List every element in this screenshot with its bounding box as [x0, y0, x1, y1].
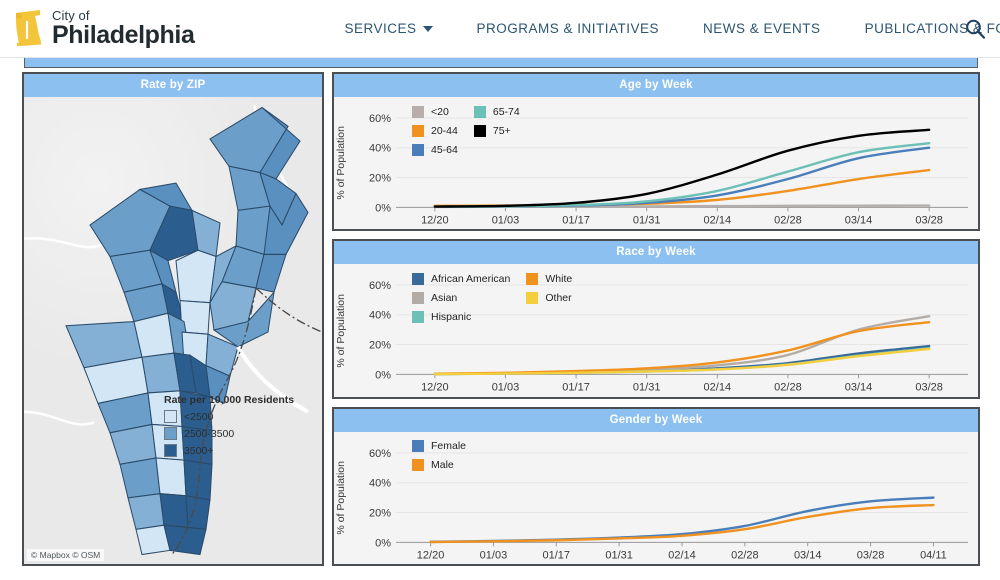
dashboard: Rate by ZIP .z { stroke:#2a4a68; stroke-… [0, 58, 1000, 580]
nav-item-programs-initiatives[interactable]: PROGRAMS & INITIATIVES [477, 21, 660, 36]
legend-swatch-high [164, 444, 177, 457]
y-axis-tick: 0% [375, 370, 391, 382]
map-body[interactable]: .z { stroke:#2a4a68; stroke-width:1; } .… [24, 97, 322, 564]
legend-item-other[interactable]: Other [526, 289, 572, 306]
legend-item-20-44[interactable]: 20-44 [412, 122, 458, 139]
legend-swatch-icon [412, 459, 424, 471]
x-axis-tick: 01/31 [633, 214, 661, 226]
x-axis-tick: 04/11 [920, 549, 947, 561]
nav-item-news-events[interactable]: NEWS & EVENTS [703, 21, 821, 36]
legend-swatch-icon [412, 292, 424, 304]
gender-chart-legend: FemaleMale [412, 438, 466, 474]
legend-label-high: 3500+ [184, 445, 214, 457]
legend-label: African American [431, 273, 510, 285]
x-axis-tick: 03/14 [794, 549, 822, 561]
rate-by-zip-panel: Rate by ZIP .z { stroke:#2a4a68; stroke-… [22, 72, 324, 566]
search-icon[interactable] [964, 18, 986, 40]
nav-item-services[interactable]: SERVICES [344, 21, 432, 36]
legend-label: Asian [431, 292, 457, 304]
legend-label-mid: 2500-3500 [184, 428, 234, 440]
rate-by-zip-title: Rate by ZIP [24, 74, 322, 97]
legend-swatch-icon [412, 273, 424, 285]
x-axis-tick: 03/14 [845, 214, 873, 226]
legend-swatch-icon [474, 125, 486, 137]
legend-label: 45-64 [431, 144, 458, 156]
legend-swatch-icon [526, 292, 538, 304]
y-axis-tick: 20% [369, 507, 391, 519]
brand-name-label: Philadelphia [52, 23, 194, 48]
legend-item-african-american[interactable]: African American [412, 270, 510, 287]
x-axis-tick: 02/28 [731, 549, 759, 561]
legend-label: 75+ [493, 125, 511, 137]
legend-label: <20 [431, 106, 449, 118]
legend-swatch-icon [412, 144, 424, 156]
site-header: City of Philadelphia SERVICES PROGRAMS &… [0, 0, 1000, 58]
map-attribution[interactable]: © Mapbox © OSM [27, 549, 104, 561]
map-legend-title: Rate per 10,000 Residents [164, 394, 294, 406]
x-axis-tick: 03/14 [845, 382, 873, 394]
x-axis-tick: 02/28 [774, 382, 802, 394]
age-chart-legend: <2020-4445-6465-7475+ [412, 103, 520, 158]
x-axis-tick: 02/28 [774, 214, 802, 226]
legend-swatch-icon [474, 106, 486, 118]
legend-swatch-icon [412, 440, 424, 452]
x-axis-tick: 02/14 [704, 214, 732, 226]
series-line-male[interactable] [431, 505, 934, 542]
legend-item-female[interactable]: Female [412, 438, 466, 455]
y-axis-tick: 40% [369, 477, 391, 489]
x-axis-tick: 03/28 [915, 214, 943, 226]
legend-label: 65-74 [493, 106, 520, 118]
y-axis-tick: 40% [369, 143, 391, 155]
legend-label: 20-44 [431, 125, 458, 137]
y-axis-tick: 20% [369, 173, 391, 185]
x-axis-tick: 02/14 [704, 382, 732, 394]
chevron-down-icon [423, 26, 433, 32]
legend-label: Female [431, 440, 466, 452]
legend-swatch-low [164, 410, 177, 423]
legend-swatch-icon [412, 125, 424, 137]
legend-item-65-74[interactable]: 65-74 [474, 103, 520, 120]
map-legend: Rate per 10,000 Residents <2500 2500-350… [164, 394, 294, 461]
x-axis-tick: 03/28 [915, 382, 943, 394]
x-axis-tick: 01/17 [562, 214, 590, 226]
y-axis-tick: 60% [369, 280, 391, 292]
legend-swatch-icon [412, 106, 424, 118]
legend-swatch-mid [164, 427, 177, 440]
site-brand[interactable]: City of Philadelphia [0, 8, 194, 50]
x-axis-tick: 03/28 [857, 549, 885, 561]
y-axis-tick: 0% [375, 202, 391, 214]
legend-item-white[interactable]: White [526, 270, 572, 287]
y-axis-tick: 0% [375, 537, 391, 549]
legend-label: Male [431, 459, 454, 471]
gender-by-week-panel: Gender by Week % of Population 0%20%40%6… [332, 407, 980, 566]
liberty-bell-icon [10, 8, 44, 50]
main-navigation: SERVICES PROGRAMS & INITIATIVES NEWS & E… [344, 21, 1000, 36]
race-chart-y-axis-label: % of Population [334, 294, 350, 368]
legend-swatch-icon [526, 273, 538, 285]
age-by-week-title: Age by Week [334, 74, 978, 97]
y-axis-tick: 20% [369, 340, 391, 352]
y-axis-tick: 60% [369, 448, 391, 460]
x-axis-tick: 01/31 [605, 549, 633, 561]
race-by-week-panel: Race by Week % of Population 0%20%40%60%… [332, 239, 980, 398]
legend-item-asian[interactable]: Asian [412, 289, 510, 306]
y-axis-tick: 60% [369, 113, 391, 125]
age-chart-y-axis-label: % of Population [334, 126, 350, 200]
legend-label: Hispanic [431, 311, 471, 323]
legend-item-male[interactable]: Male [412, 457, 466, 474]
x-axis-tick: 01/03 [492, 214, 520, 226]
philadelphia-choropleth-map[interactable]: .z { stroke:#2a4a68; stroke-width:1; } .… [24, 97, 322, 564]
legend-swatch-icon [412, 311, 424, 323]
x-axis-tick: 01/17 [562, 382, 590, 394]
dashboard-top-strip [24, 58, 978, 68]
legend-item--20[interactable]: <20 [412, 103, 458, 120]
map-legend-item-mid[interactable]: 2500-3500 [164, 427, 294, 440]
x-axis-tick: 12/20 [417, 549, 445, 561]
x-axis-tick: 01/17 [543, 549, 571, 561]
race-by-week-title: Race by Week [334, 241, 978, 264]
map-canvas[interactable]: .z { stroke:#2a4a68; stroke-width:1; } .… [24, 97, 322, 564]
map-legend-item-high[interactable]: 3500+ [164, 444, 294, 457]
legend-item-hispanic[interactable]: Hispanic [412, 308, 510, 325]
legend-label-low: <2500 [184, 411, 214, 423]
gender-chart-y-axis-label: % of Population [334, 461, 350, 535]
legend-label: Other [545, 292, 571, 304]
x-axis-tick: 01/03 [480, 549, 508, 561]
nav-label-services: SERVICES [344, 21, 416, 36]
x-axis-tick: 01/31 [633, 382, 661, 394]
x-axis-tick: 12/20 [421, 382, 449, 394]
y-axis-tick: 40% [369, 310, 391, 322]
legend-label: White [545, 273, 572, 285]
gender-by-week-title: Gender by Week [334, 409, 978, 432]
map-legend-item-low[interactable]: <2500 [164, 410, 294, 423]
x-axis-tick: 12/20 [421, 214, 449, 226]
x-axis-tick: 01/03 [492, 382, 520, 394]
legend-item-45-64[interactable]: 45-64 [412, 141, 458, 158]
age-by-week-panel: Age by Week % of Population 0%20%40%60%1… [332, 72, 980, 231]
race-chart-legend: African AmericanAsianHispanicWhiteOther [412, 270, 572, 325]
x-axis-tick: 02/14 [668, 549, 696, 561]
legend-item-75-[interactable]: 75+ [474, 122, 520, 139]
